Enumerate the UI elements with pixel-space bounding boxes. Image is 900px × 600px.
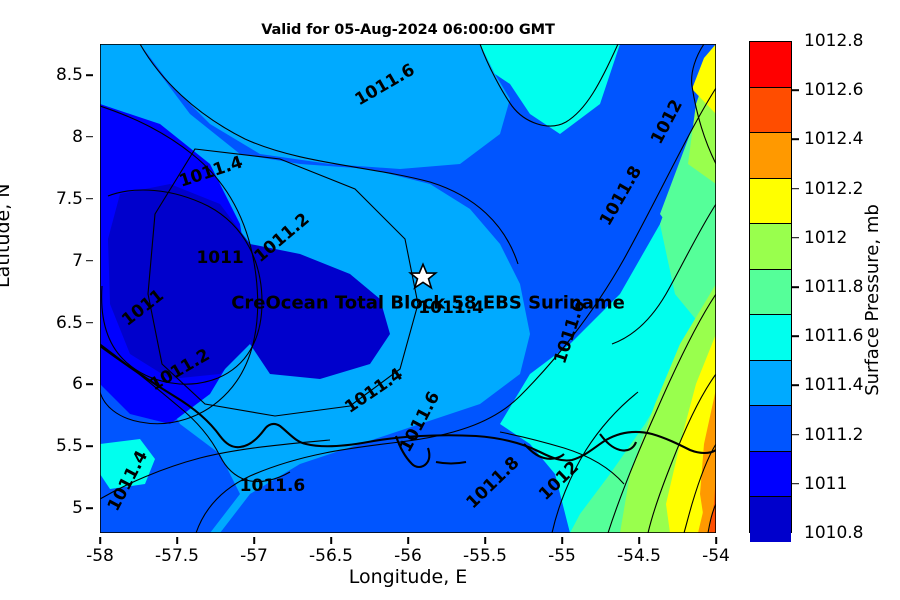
colorbar-tick-mark — [792, 335, 799, 337]
colorbar-band — [750, 269, 791, 315]
x-tick-mark — [253, 537, 255, 544]
colorbar-tick-mark — [792, 139, 799, 141]
colorbar-band — [750, 314, 791, 360]
colorbar-tick-label: 1012.4 — [804, 129, 863, 149]
y-tick-mark — [86, 446, 93, 448]
x-tick-mark — [638, 537, 640, 544]
x-tick-mark — [176, 537, 178, 544]
colorbar-band — [750, 223, 791, 269]
y-tick-mark — [86, 198, 93, 200]
x-axis-ticks: -58-57.5-57-56.5-56-55.5-55-54.5-54 — [100, 537, 716, 567]
y-axis-ticks: 8.587.576.565.55 — [0, 44, 93, 533]
colorbar-band — [750, 178, 791, 224]
colorbar[interactable] — [749, 41, 792, 533]
x-tick-mark — [330, 537, 332, 544]
x-tick-mark — [407, 537, 409, 544]
x-tick-mark — [484, 537, 486, 544]
y-tick-mark — [86, 260, 93, 262]
y-tick-mark — [86, 74, 93, 76]
contour-plot-area[interactable]: 1011.61011.41011.2101110111011.21011.410… — [100, 44, 716, 533]
y-tick-mark — [86, 136, 93, 138]
colorbar-ticks: 1012.81012.61012.41012.210121011.81011.6… — [792, 41, 900, 533]
colorbar-tick-label: 1010.8 — [804, 523, 863, 543]
colorbar-tick-label: 1011.8 — [804, 277, 863, 297]
y-tick-mark — [86, 384, 93, 386]
colorbar-tick-mark — [792, 286, 799, 288]
colorbar-band — [750, 451, 791, 497]
colorbar-tick-mark — [792, 188, 799, 190]
y-axis-label: Latitude, N — [0, 184, 14, 289]
colorbar-tick-label: 1011.4 — [804, 375, 863, 395]
colorbar-band — [750, 132, 791, 178]
colorbar-band — [750, 360, 791, 406]
y-tick-mark — [86, 322, 93, 324]
colorbar-tick-label: 1012.6 — [804, 80, 863, 100]
colorbar-tick-label: 1012.8 — [804, 31, 863, 51]
colorbar-tick-mark — [792, 434, 799, 436]
colorbar-tick-label: 1011.2 — [804, 425, 863, 445]
colorbar-tick-label: 1011 — [804, 474, 847, 494]
colorbar-tick-mark — [792, 237, 799, 239]
colorbar-label: Surface Pressure, mb — [862, 204, 883, 396]
x-axis-label: Longitude, E — [100, 566, 716, 588]
colorbar-band — [750, 87, 791, 133]
colorbar-band — [750, 405, 791, 451]
colorbar-tick-label: 1012 — [804, 228, 847, 248]
page-title: Valid for 05-Aug-2024 06:00:00 GMT — [100, 22, 716, 38]
colorbar-tick-mark — [792, 385, 799, 387]
colorbar-band — [750, 42, 791, 87]
colorbar-tick-mark — [792, 483, 799, 485]
y-tick-mark — [86, 507, 93, 509]
x-tick-mark — [715, 537, 717, 544]
contour-field — [100, 44, 716, 533]
colorbar-tick-label: 1011.6 — [804, 326, 863, 346]
colorbar-band — [750, 496, 791, 542]
x-tick-mark — [561, 537, 563, 544]
colorbar-tick-mark — [792, 89, 799, 91]
colorbar-tick-label: 1012.2 — [804, 179, 863, 199]
x-tick-mark — [99, 537, 101, 544]
